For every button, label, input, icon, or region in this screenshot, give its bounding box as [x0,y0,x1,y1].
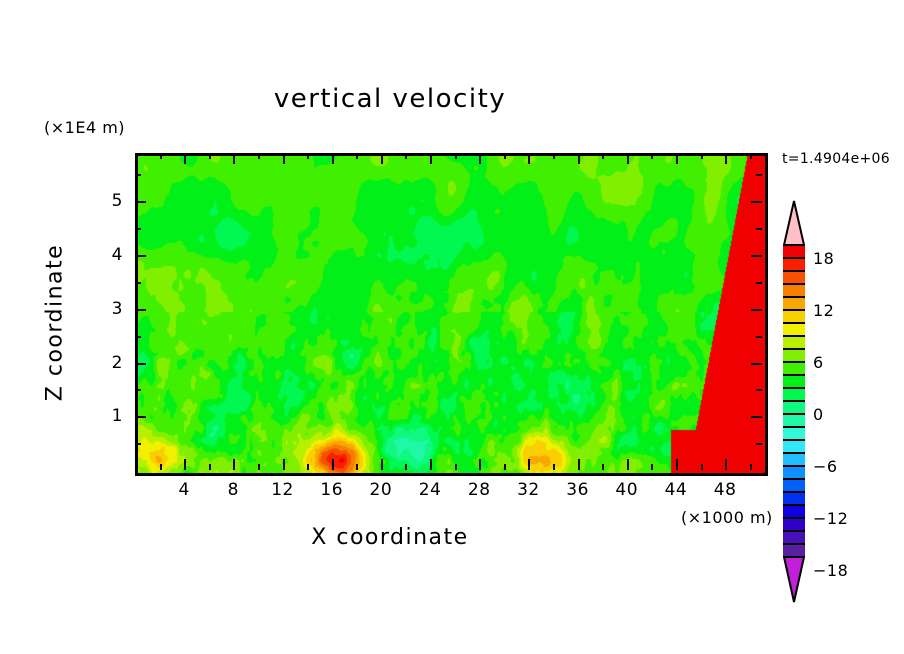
colorbar-band [783,349,805,362]
x-tick [602,464,604,470]
x-tick [356,464,358,470]
x-tick [504,464,506,470]
x-tick-top [479,153,481,164]
colorbar-band [783,401,805,414]
x-tick [578,459,580,470]
x-tick-label: 24 [410,480,450,500]
colorbar-tick-label: 18 [813,249,834,268]
colorbar-band [783,336,805,349]
colorbar-under-arrow [783,557,805,603]
colorbar-band [783,245,805,258]
x-tick [528,459,530,470]
time-annotation: t=1.4904e+06 [782,151,890,167]
y-tick [135,416,146,418]
x-tick-top [209,153,211,159]
colorbar-band [783,310,805,323]
x-tick-label: 4 [164,480,204,500]
x-tick [258,464,260,470]
x-tick-top [578,153,580,164]
x-tick-label: 16 [312,480,352,500]
x-tick [701,464,703,470]
x-tick-top [405,153,407,159]
x-tick [184,459,186,470]
x-tick [725,459,727,470]
x-tick-top [307,153,309,159]
contour-plot-area [135,153,768,476]
x-tick-top [602,153,604,159]
y-tick [135,443,141,445]
x-tick-top [676,153,678,164]
page-title: vertical velocity [0,84,780,114]
x-tick-top [283,153,285,164]
x-tick [332,459,334,470]
x-tick [381,459,383,470]
x-tick-label: 40 [607,480,647,500]
x-tick-top [356,153,358,159]
x-tick [307,464,309,470]
x-tick [233,459,235,470]
y-tick [135,363,146,365]
colorbar-band [783,453,805,466]
y-axis-title: Z coordinate [43,223,68,423]
vertical-velocity-field [138,156,765,473]
x-tick-top [504,153,506,159]
colorbar-band [783,258,805,271]
colorbar-band [783,518,805,531]
colorbar-tick-label: 6 [813,353,824,372]
colorbar-tick-label: 0 [813,405,824,424]
x-tick [553,464,555,470]
colorbar [783,200,805,520]
x-tick-label: 12 [263,480,303,500]
y-tick [135,336,141,338]
colorbar-band [783,271,805,284]
colorbar-band [783,388,805,401]
x-tick [430,459,432,470]
x-tick [676,459,678,470]
y-tick [135,174,141,176]
x-tick-label: 8 [213,480,253,500]
x-tick-top [553,153,555,159]
x-tick [479,459,481,470]
x-tick-top [750,153,752,159]
x-tick-label: 28 [459,480,499,500]
colorbar-band [783,544,805,557]
colorbar-band [783,284,805,297]
x-tick-top [627,153,629,164]
colorbar-band [783,323,805,336]
y-axis-unit-label: (×1E4 m) [44,118,125,137]
colorbar-tick-label: −18 [813,561,848,580]
y-tick-label: 1 [93,406,123,426]
x-tick-label: 48 [705,480,745,500]
y-tick-right [751,363,762,365]
x-tick-top [430,153,432,164]
x-tick-top [160,153,162,159]
y-tick-right [756,282,762,284]
x-tick-top [651,153,653,159]
x-tick-top [725,153,727,164]
colorbar-band [783,531,805,544]
colorbar-band [783,362,805,375]
colorbar-tick-label: −6 [813,457,838,476]
colorbar-band [783,375,805,388]
x-tick-top [455,153,457,159]
x-tick [750,464,752,470]
y-tick-label: 4 [93,245,123,265]
x-axis-title: X coordinate [0,525,780,550]
colorbar-band [783,479,805,492]
y-tick-right [756,443,762,445]
x-tick-label: 32 [508,480,548,500]
x-tick-top [332,153,334,164]
colorbar-band [783,440,805,453]
y-tick-right [756,389,762,391]
figure-canvas: vertical velocity (×1E4 m) (×1000 m) t=1… [0,0,904,654]
x-tick [455,464,457,470]
y-tick [135,201,146,203]
y-tick-label: 5 [93,191,123,211]
y-tick-right [751,416,762,418]
x-tick [160,464,162,470]
x-tick-label: 44 [656,480,696,500]
x-tick-label: 20 [361,480,401,500]
x-tick-top [528,153,530,164]
y-tick-right [751,309,762,311]
x-tick-top [701,153,703,159]
x-tick-top [184,153,186,164]
x-tick-label: 36 [558,480,598,500]
y-tick [135,309,146,311]
y-tick-right [751,255,762,257]
colorbar-band [783,505,805,518]
colorbar-band [783,466,805,479]
x-tick [651,464,653,470]
y-tick [135,389,141,391]
colorbar-band [783,297,805,310]
colorbar-tick-label: −12 [813,509,848,528]
y-tick-right [756,174,762,176]
x-tick-top [258,153,260,159]
y-tick [135,228,141,230]
y-tick-label: 3 [93,299,123,319]
y-tick-right [756,228,762,230]
colorbar-over-arrow [783,200,805,245]
y-tick-label: 2 [93,353,123,373]
x-tick-top [381,153,383,164]
x-tick [405,464,407,470]
colorbar-band [783,414,805,427]
x-tick [283,459,285,470]
colorbar-tick-label: 12 [813,301,834,320]
y-tick-right [751,201,762,203]
y-tick [135,282,141,284]
colorbar-band [783,492,805,505]
x-tick [209,464,211,470]
colorbar-band [783,427,805,440]
y-tick [135,255,146,257]
x-tick-top [233,153,235,164]
x-tick [627,459,629,470]
y-tick-right [756,336,762,338]
